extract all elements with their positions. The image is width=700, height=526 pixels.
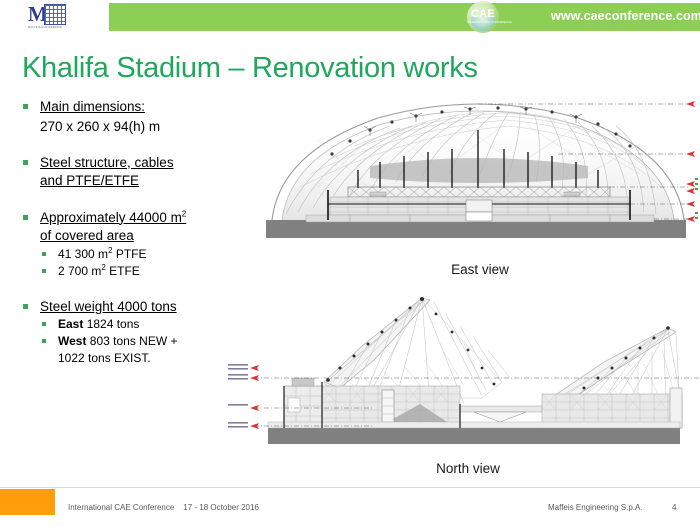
footer-accent-block xyxy=(0,489,55,515)
bullet-west-weight: West 803 tons NEW + xyxy=(18,333,258,350)
bullet-block-structure: Steel structure, cables and PTFE/ETFE xyxy=(18,154,258,191)
bullet-marker-icon xyxy=(42,252,46,256)
bullet-marker-icon xyxy=(23,304,28,309)
bullet-marker-icon xyxy=(42,339,46,343)
footer-conference-info: International CAE Conference17 - 18 Octo… xyxy=(68,503,259,512)
bullet-block-covered-area: Approximately 44000 m2 of covered area 4… xyxy=(18,209,258,280)
bullet-etfe-area: 2 700 m2 ETFE xyxy=(18,263,258,280)
bullet-ptfe-area: 41 300 m2 PTFE xyxy=(18,246,258,263)
bullet-steel-structure-line2-row: and PTFE/ETFE xyxy=(18,172,258,191)
logo-caption: MAFFEIS ENGINEERING xyxy=(28,26,72,29)
north-view-drawing xyxy=(224,286,700,444)
bullet-west-weight-line2-row: 1022 tons EXIST. xyxy=(18,350,258,367)
bullet-marker-icon xyxy=(42,322,46,326)
logo-grid-icon xyxy=(44,4,66,25)
dimensions-value-text: 270 x 260 x 94(h) m xyxy=(40,119,160,134)
bullet-steel-structure: Steel structure, cables xyxy=(18,154,258,173)
logo-letter-m: M xyxy=(28,3,45,25)
bullet-marker-icon xyxy=(23,160,28,165)
west-weight-existing: 1022 tons EXIST. xyxy=(58,351,151,365)
bullet-steel-weight: Steel weight 4000 tons xyxy=(18,298,258,317)
east-weight-label: East xyxy=(58,317,83,331)
north-view-label: North view xyxy=(368,461,568,476)
bullet-marker-icon xyxy=(23,104,28,109)
slide-title: Khalifa Stadium – Renovation works xyxy=(22,52,478,85)
bullet-marker-icon xyxy=(23,215,28,220)
bullet-covered-area: Approximately 44000 m2 xyxy=(18,209,258,228)
covered-area-line2: of covered area xyxy=(40,228,134,243)
etfe-area-pre: 2 700 m xyxy=(58,264,101,278)
bullet-block-steel-weight: Steel weight 4000 tons East 1824 tons We… xyxy=(18,298,258,368)
bullet-main-dimensions: Main dimensions: xyxy=(18,98,258,117)
bullet-main-dimensions-label: Main dimensions: xyxy=(40,99,145,114)
bullet-covered-area-line2-row: of covered area xyxy=(18,227,258,246)
slide-header: M MAFFEIS ENGINEERING CAE INTERNATIONAL … xyxy=(0,0,700,34)
cae-logo-text: CAE xyxy=(467,9,499,20)
footer-company: Maffeis Engineering S.p.A. xyxy=(548,503,643,512)
bullet-east-weight: East 1824 tons xyxy=(18,316,258,333)
maffeis-logo: M MAFFEIS ENGINEERING xyxy=(28,2,72,32)
cae-logo-subtext: INTERNATIONAL CONFERENCE xyxy=(467,20,499,24)
etfe-area-post: ETFE xyxy=(106,264,140,278)
covered-area-value: Approximately 44000 m xyxy=(40,210,182,225)
west-weight-label: West xyxy=(58,334,86,348)
west-weight-value: 803 tons NEW + xyxy=(86,334,177,348)
ptfe-area-post: PTFE xyxy=(113,247,147,261)
footer-divider xyxy=(0,487,700,488)
footer-page-number: 4 xyxy=(672,503,676,512)
east-weight-value: 1824 tons xyxy=(83,317,139,331)
bullet-steel-structure-line1: Steel structure, cables xyxy=(40,155,174,170)
footer-conference-name: International CAE Conference xyxy=(68,503,174,512)
bullet-marker-icon xyxy=(42,269,46,273)
bullet-list: Main dimensions: 270 x 260 x 94(h) m Ste… xyxy=(18,98,258,367)
east-view-drawing xyxy=(258,92,700,242)
covered-area-text: Approximately 44000 m2 xyxy=(40,210,186,225)
east-view-label: East view xyxy=(380,262,580,277)
bullet-steel-structure-line2: and PTFE/ETFE xyxy=(40,173,139,188)
bullet-dimensions-value: 270 x 260 x 94(h) m xyxy=(18,117,258,136)
cae-logo: CAE INTERNATIONAL CONFERENCE xyxy=(467,1,501,33)
bullet-block-dimensions: Main dimensions: 270 x 260 x 94(h) m xyxy=(18,98,258,136)
steel-weight-text: Steel weight 4000 tons xyxy=(40,299,177,314)
conference-url: www.caeconference.com xyxy=(551,9,700,23)
covered-area-unit-exponent: 2 xyxy=(182,209,186,218)
footer-dates: 17 - 18 October 2016 xyxy=(183,503,259,512)
ptfe-area-pre: 41 300 m xyxy=(58,247,108,261)
